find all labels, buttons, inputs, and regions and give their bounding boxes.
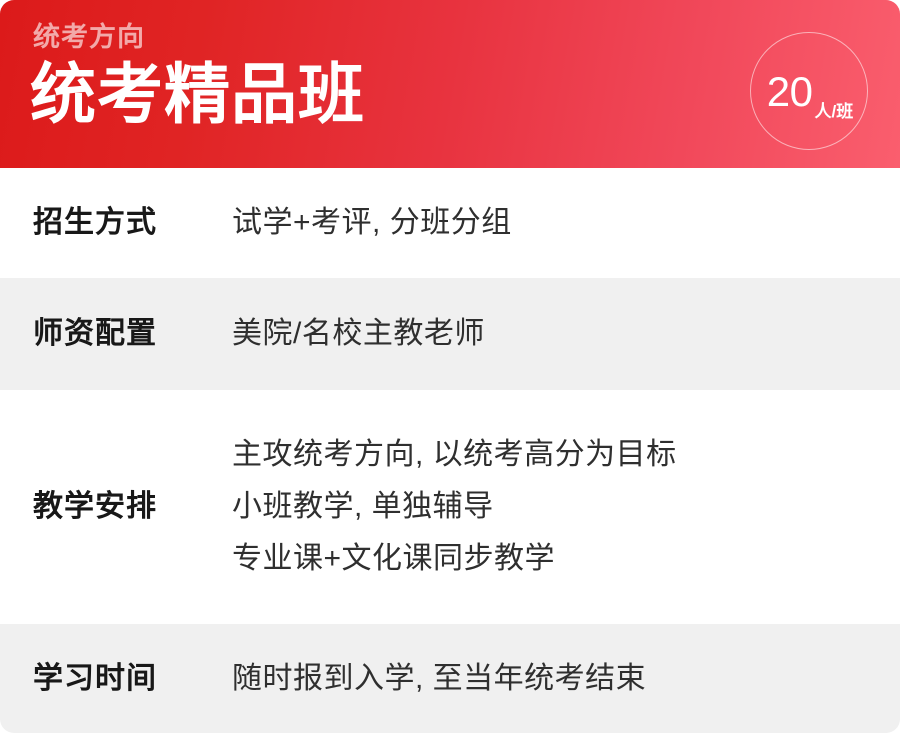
class-size-unit: 人/班: [814, 103, 853, 120]
class-size-badge-content: 20 人/班: [751, 33, 869, 151]
info-row-value-line: 美院/名校主教老师: [232, 308, 900, 360]
info-row-enrollment: 招生方式 试学+考评, 分班分组: [0, 168, 900, 278]
banner-text-group: 统考方向 统考精品班: [30, 20, 650, 132]
info-row-value: 随时报到入学, 至当年统考结束: [232, 653, 900, 705]
info-row-value: 美院/名校主教老师: [232, 308, 900, 360]
info-row-value-line: 试学+考评, 分班分组: [232, 197, 900, 249]
info-row-label: 学习时间: [33, 660, 232, 698]
info-row-teaching-plan: 教学安排 主攻统考方向, 以统考高分为目标 小班教学, 单独辅导 专业课+文化课…: [0, 390, 900, 624]
info-row-faculty: 师资配置 美院/名校主教老师: [0, 278, 900, 390]
banner-subtitle: 统考方向: [33, 20, 650, 54]
class-size-number: 20: [767, 71, 813, 113]
class-size-badge: 20 人/班: [750, 32, 868, 150]
info-row-label: 招生方式: [33, 204, 232, 242]
info-row-label: 师资配置: [33, 315, 232, 353]
course-info-card: 统考方向 统考精品班 20 人/班 招生方式 试学+考评, 分班分组 师资配置 …: [0, 0, 900, 733]
info-rows: 招生方式 试学+考评, 分班分组 师资配置 美院/名校主教老师 教学安排 主攻统…: [0, 168, 900, 733]
card-header-banner: 统考方向 统考精品班 20 人/班: [0, 0, 900, 168]
info-row-value-line: 主攻统考方向, 以统考高分为目标: [232, 429, 900, 481]
info-row-value-line: 专业课+文化课同步教学: [232, 533, 900, 585]
info-row-value: 试学+考评, 分班分组: [232, 197, 900, 249]
info-row-value-line: 小班教学, 单独辅导: [232, 481, 900, 533]
banner-title: 统考精品班: [30, 56, 650, 132]
info-row-label: 教学安排: [33, 488, 232, 526]
info-row-value-line: 随时报到入学, 至当年统考结束: [232, 653, 900, 705]
info-row-value: 主攻统考方向, 以统考高分为目标 小班教学, 单独辅导 专业课+文化课同步教学: [232, 429, 900, 585]
info-row-study-period: 学习时间 随时报到入学, 至当年统考结束: [0, 624, 900, 733]
